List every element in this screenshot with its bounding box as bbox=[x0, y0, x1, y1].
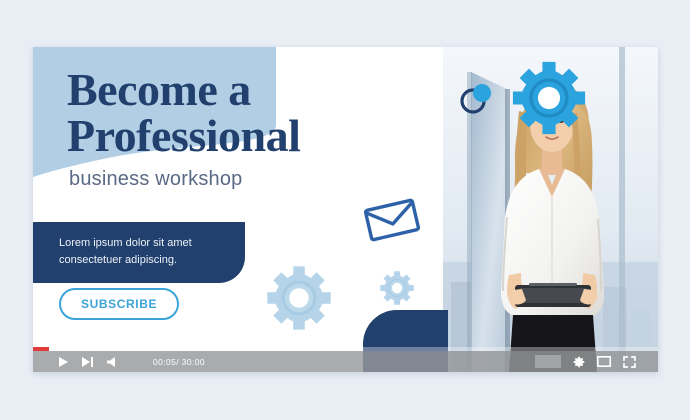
play-icon[interactable] bbox=[57, 356, 69, 368]
envelope-icon bbox=[363, 197, 421, 248]
headline-line-2: Professional bbox=[67, 113, 487, 159]
progress-thumb-marker bbox=[535, 355, 561, 368]
description-box: Lorem ipsum dolor sit amet consectetuer … bbox=[33, 222, 245, 283]
fullscreen-icon[interactable] bbox=[623, 356, 636, 368]
miniplayer-icon[interactable] bbox=[597, 356, 611, 367]
gear-icon bbox=[508, 57, 590, 144]
controls-row: 00:05/ 30:00 bbox=[33, 351, 658, 372]
headline-line-1: Become a bbox=[67, 64, 251, 115]
gear-icon[interactable] bbox=[573, 356, 585, 368]
hero-copy: Become a Professional business workshop bbox=[67, 67, 487, 191]
screenshot-root: Become a Professional business workshop … bbox=[0, 0, 690, 420]
page-title: Become a Professional bbox=[67, 67, 487, 158]
description-line-2: consectetuer adipiscing. bbox=[59, 252, 227, 269]
video-controls-bar[interactable]: 00:05/ 30:00 bbox=[33, 347, 658, 372]
controls-left-group: 00:05/ 30:00 bbox=[33, 356, 205, 368]
controls-right-group bbox=[535, 355, 658, 368]
next-track-icon[interactable] bbox=[81, 356, 94, 368]
subtitle: business workshop bbox=[69, 168, 487, 191]
gear-icon bbox=[378, 269, 416, 312]
time-display: 00:05/ 30:00 bbox=[153, 357, 205, 367]
subscribe-button[interactable]: SUBSCRIBE bbox=[59, 288, 179, 320]
volume-icon[interactable] bbox=[106, 356, 119, 368]
video-thumbnail-card[interactable]: Become a Professional business workshop … bbox=[33, 47, 658, 372]
gear-icon bbox=[263, 262, 335, 339]
description-line-1: Lorem ipsum dolor sit amet bbox=[59, 235, 227, 252]
